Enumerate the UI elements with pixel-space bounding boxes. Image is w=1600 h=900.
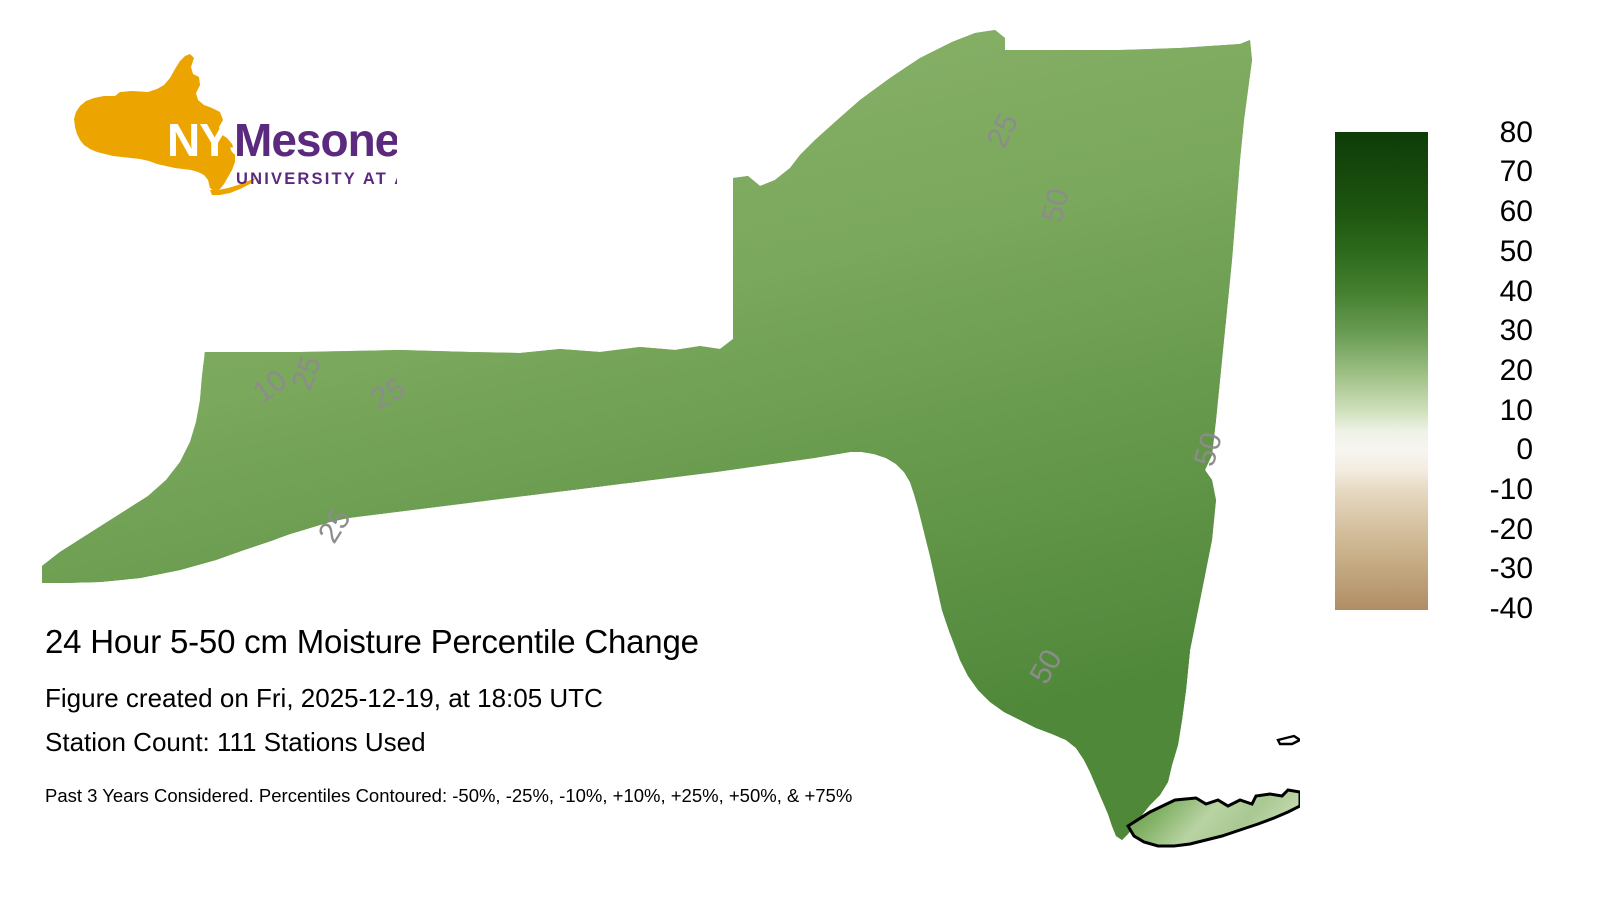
colorbar-tick: 0 [1516,435,1533,465]
figure-created: Figure created on Fri, 2025-12-19, at 18… [45,682,1155,714]
island-outline-small [1278,736,1300,744]
colorbar-gradient [1335,132,1428,610]
colorbar-tick: 50 [1500,237,1533,267]
colorbar-tick: -30 [1490,554,1533,584]
colorbar-tick: 60 [1500,197,1533,227]
figure-footnote: Past 3 Years Considered. Percentiles Con… [45,784,1155,808]
colorbar-tick: -20 [1490,515,1533,545]
colorbar-tick: -40 [1490,594,1533,624]
colorbar-tick: 70 [1500,157,1533,187]
colorbar-tick: 30 [1500,316,1533,346]
colorbar-tick: 80 [1500,118,1533,148]
colorbar-tick: -10 [1490,475,1533,505]
station-count: Station Count: 111 Stations Used [45,726,1155,758]
colorbar-tick: 10 [1500,396,1533,426]
caption-block: 24 Hour 5-50 cm Moisture Percentile Chan… [45,622,1155,808]
colorbar-tick: 20 [1500,356,1533,386]
colorbar-tick-labels: 80 70 60 50 40 30 20 10 0 -10 -20 -30 -4… [1435,122,1563,620]
colorbar-tick: 40 [1500,277,1533,307]
figure-title: 24 Hour 5-50 cm Moisture Percentile Chan… [45,622,1155,662]
colorbar: 80 70 60 50 40 30 20 10 0 -10 -20 -30 -4… [1335,122,1585,622]
